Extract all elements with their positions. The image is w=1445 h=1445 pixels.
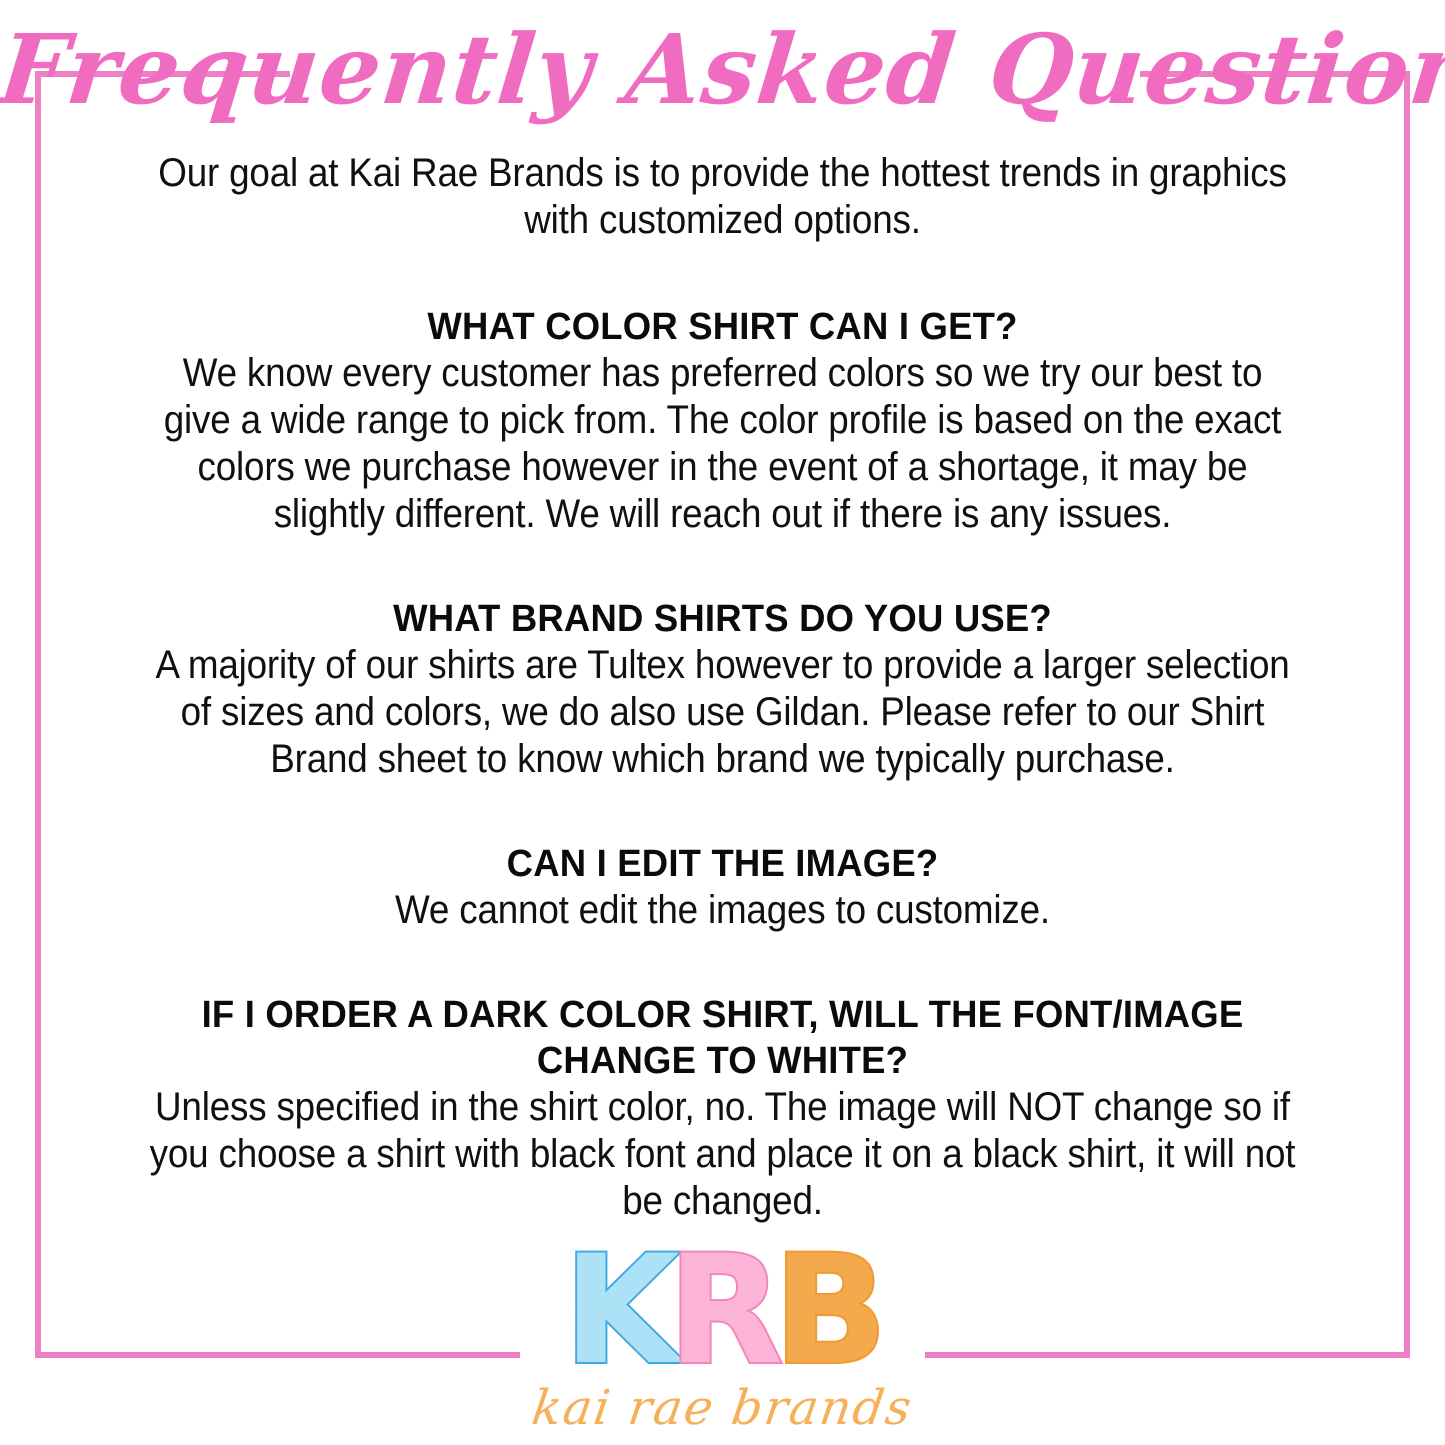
faq-item: CAN I EDIT THE IMAGE? We cannot edit the… <box>95 841 1350 934</box>
logo-letter-r: R <box>668 1236 778 1386</box>
faq-answer: We cannot edit the images to customize. <box>145 887 1300 934</box>
logo-letter-b: B <box>773 1236 881 1386</box>
page-title: Frequently Asked Questions <box>0 10 1445 130</box>
faq-question: CAN I EDIT THE IMAGE? <box>120 841 1325 887</box>
faq-content: Our goal at Kai Rae Brands is to provide… <box>95 150 1350 1225</box>
faq-item: WHAT COLOR SHIRT CAN I GET? We know ever… <box>95 304 1350 538</box>
faq-question: IF I ORDER A DARK COLOR SHIRT, WILL THE … <box>120 992 1325 1084</box>
frame-right-rule <box>1404 71 1410 1358</box>
spacer <box>95 783 1350 841</box>
intro-paragraph: Our goal at Kai Rae Brands is to provide… <box>145 150 1300 244</box>
faq-answer: Unless specified in the shirt color, no.… <box>145 1084 1300 1225</box>
faq-question: WHAT COLOR SHIRT CAN I GET? <box>120 304 1325 350</box>
faq-item: IF I ORDER A DARK COLOR SHIRT, WILL THE … <box>95 992 1350 1225</box>
spacer <box>95 934 1350 992</box>
frame-left-rule <box>35 71 41 1358</box>
faq-question: WHAT BRAND SHIRTS DO YOU USE? <box>120 596 1325 642</box>
spacer <box>95 244 1350 304</box>
logo-tagline: kai rae brands <box>0 1380 1445 1436</box>
faq-answer: A majority of our shirts are Tultex howe… <box>145 642 1300 783</box>
logo-letter-k: K <box>563 1236 673 1386</box>
faq-answer: We know every customer has preferred col… <box>145 350 1300 538</box>
faq-graphic: Frequently Asked Questions Our goal at K… <box>0 0 1445 1445</box>
brand-logo: KRB kai rae brands <box>0 1236 1445 1436</box>
krb-logo-icon: KRB <box>563 1236 881 1386</box>
spacer <box>95 538 1350 596</box>
faq-item: WHAT BRAND SHIRTS DO YOU USE? A majority… <box>95 596 1350 783</box>
